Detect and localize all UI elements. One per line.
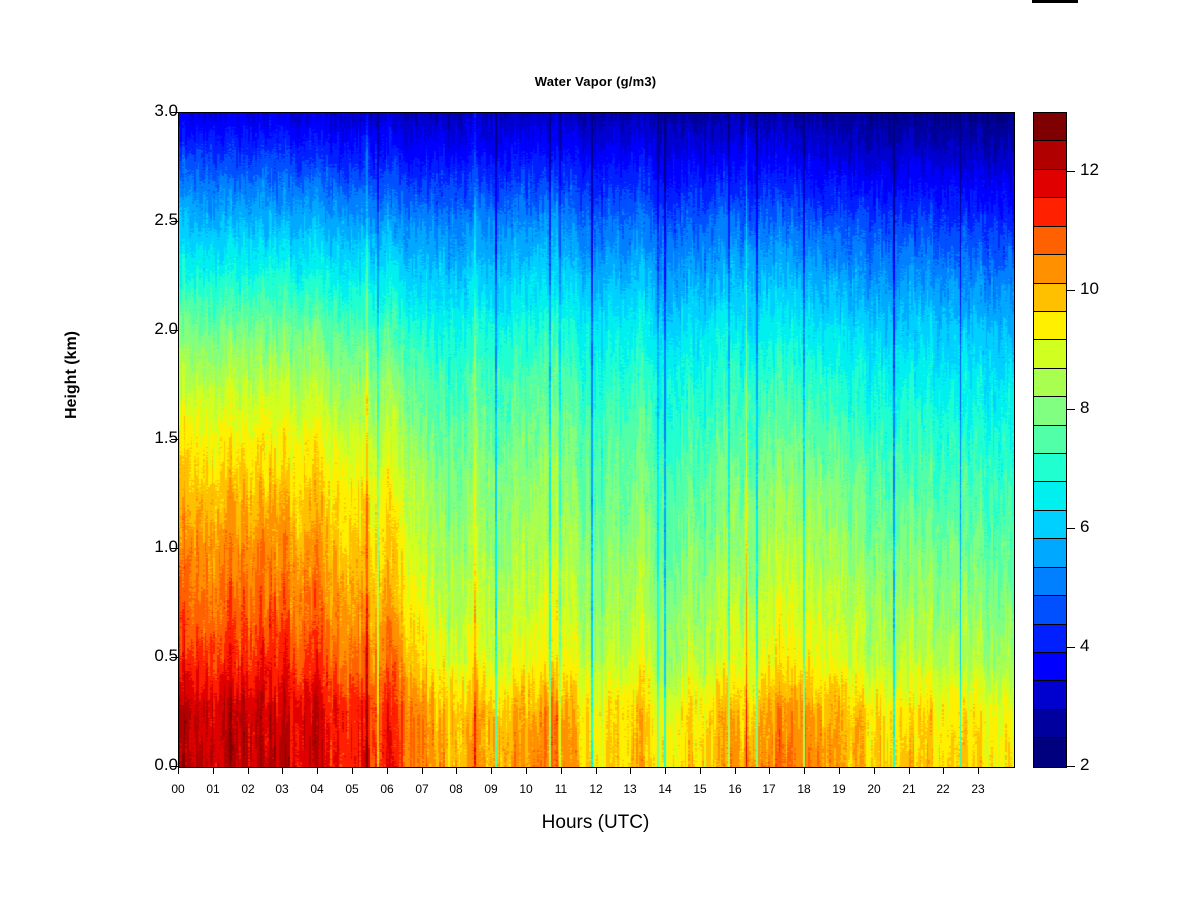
x-tick-mark xyxy=(526,767,527,774)
x-tick-mark xyxy=(178,767,179,774)
water-vapor-figure: Water Vapor (g/m3) 0.00.51.01.52.02.53.0… xyxy=(0,0,1200,900)
colorbar-tick-mark xyxy=(1067,171,1075,172)
x-tick-label: 09 xyxy=(471,782,511,796)
colorbar-band xyxy=(1034,312,1066,340)
colorbar-tick-label: 8 xyxy=(1080,398,1089,418)
colorbar-band xyxy=(1034,340,1066,368)
x-tick-mark xyxy=(978,767,979,774)
colorbar-band xyxy=(1034,710,1066,738)
heatmap-plot-area[interactable] xyxy=(178,112,1015,768)
stray-black-line-artifact xyxy=(1032,0,1078,3)
colorbar-tick-label: 10 xyxy=(1080,279,1099,299)
colorbar-tick-label: 12 xyxy=(1080,160,1099,180)
x-tick-label: 00 xyxy=(158,782,198,796)
x-tick-label: 14 xyxy=(645,782,685,796)
x-tick-mark xyxy=(839,767,840,774)
x-tick-label: 01 xyxy=(193,782,233,796)
x-tick-label: 13 xyxy=(610,782,650,796)
y-tick-label: 0.0 xyxy=(154,755,178,775)
x-tick-label: 03 xyxy=(262,782,302,796)
x-tick-label: 22 xyxy=(923,782,963,796)
x-tick-mark xyxy=(456,767,457,774)
x-tick-mark xyxy=(491,767,492,774)
colorbar-tick-label: 4 xyxy=(1080,636,1089,656)
x-tick-label: 08 xyxy=(436,782,476,796)
x-tick-label: 04 xyxy=(297,782,337,796)
y-tick-label: 1.5 xyxy=(154,428,178,448)
colorbar-band xyxy=(1034,738,1066,766)
colorbar-band xyxy=(1034,284,1066,312)
colorbar-band xyxy=(1034,539,1066,567)
x-tick-label: 18 xyxy=(784,782,824,796)
colorbar-band xyxy=(1034,198,1066,226)
colorbar-band xyxy=(1034,681,1066,709)
colorbar-band xyxy=(1034,113,1066,141)
colorbar-band xyxy=(1034,369,1066,397)
colorbar-tick-label: 6 xyxy=(1080,517,1089,537)
x-tick-mark xyxy=(700,767,701,774)
x-tick-mark xyxy=(909,767,910,774)
x-tick-mark xyxy=(804,767,805,774)
x-tick-label: 06 xyxy=(367,782,407,796)
x-tick-mark xyxy=(596,767,597,774)
y-tick-label: 1.0 xyxy=(154,537,178,557)
heatmap-canvas[interactable] xyxy=(179,113,1014,767)
colorbar-band xyxy=(1034,625,1066,653)
colorbar-tick-mark xyxy=(1067,647,1075,648)
colorbar-band xyxy=(1034,511,1066,539)
x-tick-mark xyxy=(352,767,353,774)
x-tick-label: 05 xyxy=(332,782,372,796)
x-tick-mark xyxy=(422,767,423,774)
x-tick-label: 20 xyxy=(854,782,894,796)
y-tick-label: 0.5 xyxy=(154,646,178,666)
y-axis-title: Height (km) xyxy=(63,379,81,419)
x-tick-mark xyxy=(943,767,944,774)
colorbar-tick-mark xyxy=(1067,766,1075,767)
x-tick-label: 23 xyxy=(958,782,998,796)
x-tick-label: 17 xyxy=(749,782,789,796)
x-tick-label: 19 xyxy=(819,782,859,796)
x-tick-mark xyxy=(769,767,770,774)
colorbar-band xyxy=(1034,255,1066,283)
x-tick-mark xyxy=(213,767,214,774)
colorbar-band xyxy=(1034,596,1066,624)
colorbar-tick-mark xyxy=(1067,409,1075,410)
x-tick-mark xyxy=(735,767,736,774)
page-title: Water Vapor (g/m3) xyxy=(178,74,1013,89)
x-tick-mark xyxy=(282,767,283,774)
x-tick-mark xyxy=(317,767,318,774)
colorbar-band xyxy=(1034,482,1066,510)
colorbar-tick-mark xyxy=(1067,290,1075,291)
colorbar-band xyxy=(1034,426,1066,454)
colorbar-band xyxy=(1034,568,1066,596)
colorbar-band xyxy=(1034,653,1066,681)
colorbar-band xyxy=(1034,227,1066,255)
y-tick-label: 2.5 xyxy=(154,210,178,230)
x-tick-mark xyxy=(248,767,249,774)
x-tick-mark xyxy=(665,767,666,774)
y-tick-label: 2.0 xyxy=(154,319,178,339)
x-tick-mark xyxy=(874,767,875,774)
colorbar-tick-label: 2 xyxy=(1080,755,1089,775)
colorbar[interactable] xyxy=(1033,112,1067,768)
x-tick-mark xyxy=(387,767,388,774)
x-tick-mark xyxy=(630,767,631,774)
colorbar-band xyxy=(1034,397,1066,425)
x-axis-title: Hours (UTC) xyxy=(178,812,1013,834)
y-tick-label: 3.0 xyxy=(154,101,178,121)
x-tick-label: 10 xyxy=(506,782,546,796)
x-tick-label: 11 xyxy=(541,782,581,796)
colorbar-band xyxy=(1034,170,1066,198)
x-tick-mark xyxy=(561,767,562,774)
colorbar-band xyxy=(1034,454,1066,482)
colorbar-tick-mark xyxy=(1067,528,1075,529)
x-tick-label: 15 xyxy=(680,782,720,796)
colorbar-band xyxy=(1034,141,1066,169)
